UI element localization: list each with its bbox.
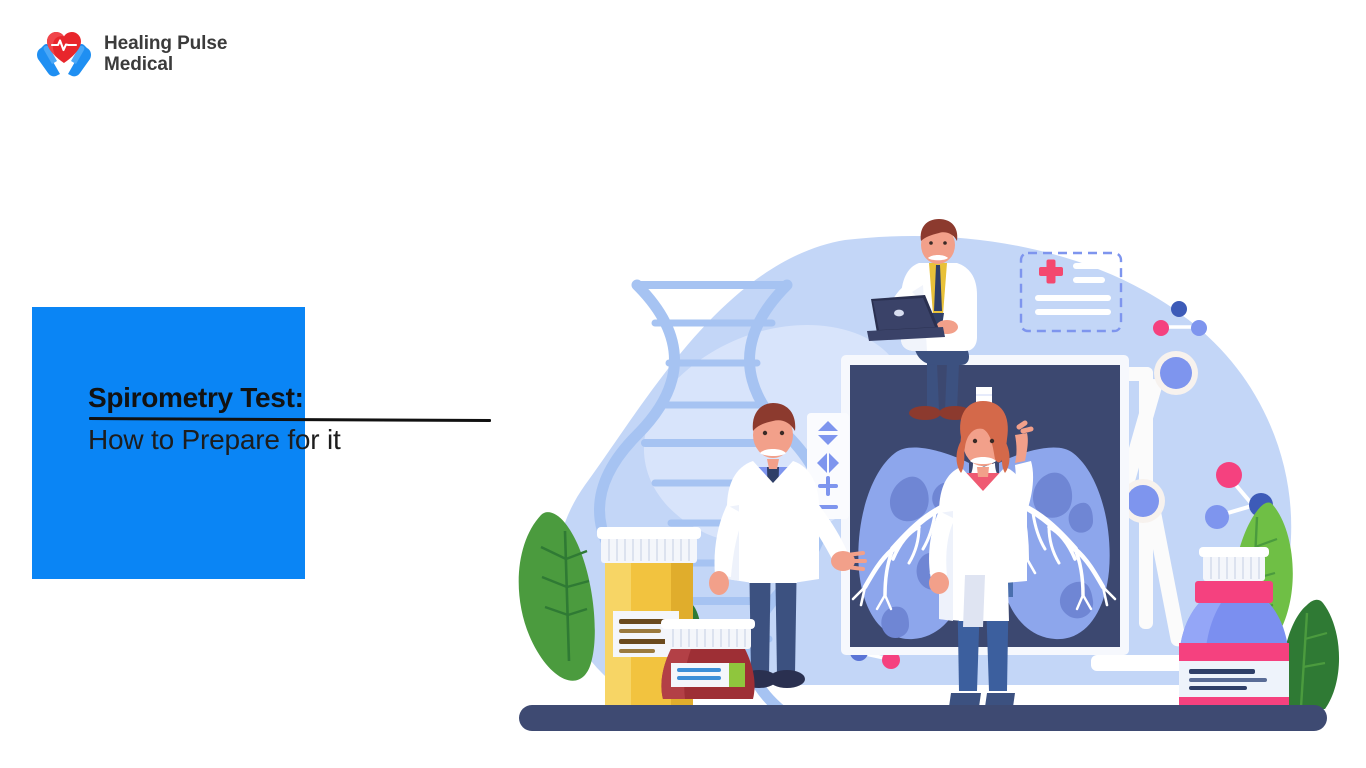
brand-logo[interactable]: Healing Pulse Medical xyxy=(33,26,227,82)
leaf-plant xyxy=(1281,600,1339,709)
page-title-line-2: How to Prepare for it xyxy=(88,424,518,456)
medicine-jar-maroon xyxy=(661,619,755,699)
floor-platform xyxy=(519,705,1327,731)
medical-spirometry-illustration xyxy=(495,215,1355,745)
brand-name: Healing Pulse Medical xyxy=(104,33,227,76)
brand-name-line-1: Healing Pulse xyxy=(104,33,227,54)
banner-page: Healing Pulse Medical Spirometry Test: H… xyxy=(0,0,1366,768)
page-title-line-1: Spirometry Test: xyxy=(88,382,518,413)
brand-name-line-2: Medical xyxy=(104,54,227,75)
title-divider-rule xyxy=(89,417,491,422)
page-title: Spirometry Test: How to Prepare for it xyxy=(88,382,518,457)
hands-holding-heart-icon xyxy=(33,26,95,82)
